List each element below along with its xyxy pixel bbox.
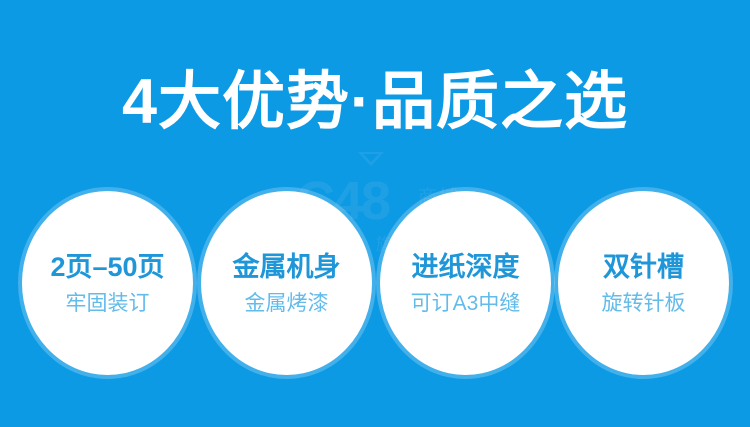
feature-subtitle: 可订A3中缝 (411, 291, 521, 317)
feature-title: 金属机身 (233, 250, 341, 284)
feature-subtitle: 旋转针板 (602, 291, 686, 317)
page-title: 4大优势·品质之选 (0, 62, 750, 142)
chevron-down-icon (358, 152, 384, 166)
feature-bubble-1: 2页–50页 牢固装订 (22, 191, 193, 375)
feature-bubble-3: 进纸深度 可订A3中缝 (380, 191, 551, 375)
feature-list: 2页–50页 牢固装订 金属机身 金属烤漆 进纸深度 可订A3中缝 双针槽 旋转… (0, 191, 750, 377)
feature-subtitle: 牢固装订 (66, 291, 150, 317)
feature-title: 双针槽 (603, 250, 684, 284)
feature-title: 2页–50页 (50, 250, 164, 284)
feature-subtitle: 金属烤漆 (245, 291, 329, 317)
feature-bubble-4: 双针槽 旋转针板 (558, 191, 729, 375)
feature-title: 进纸深度 (412, 250, 520, 284)
promo-banner: C48 商城 脑 旗 4大优势·品质之选 2页–50页 牢固装订 金属机身 金属… (0, 0, 750, 427)
feature-bubble-2: 金属机身 金属烤漆 (201, 191, 372, 375)
